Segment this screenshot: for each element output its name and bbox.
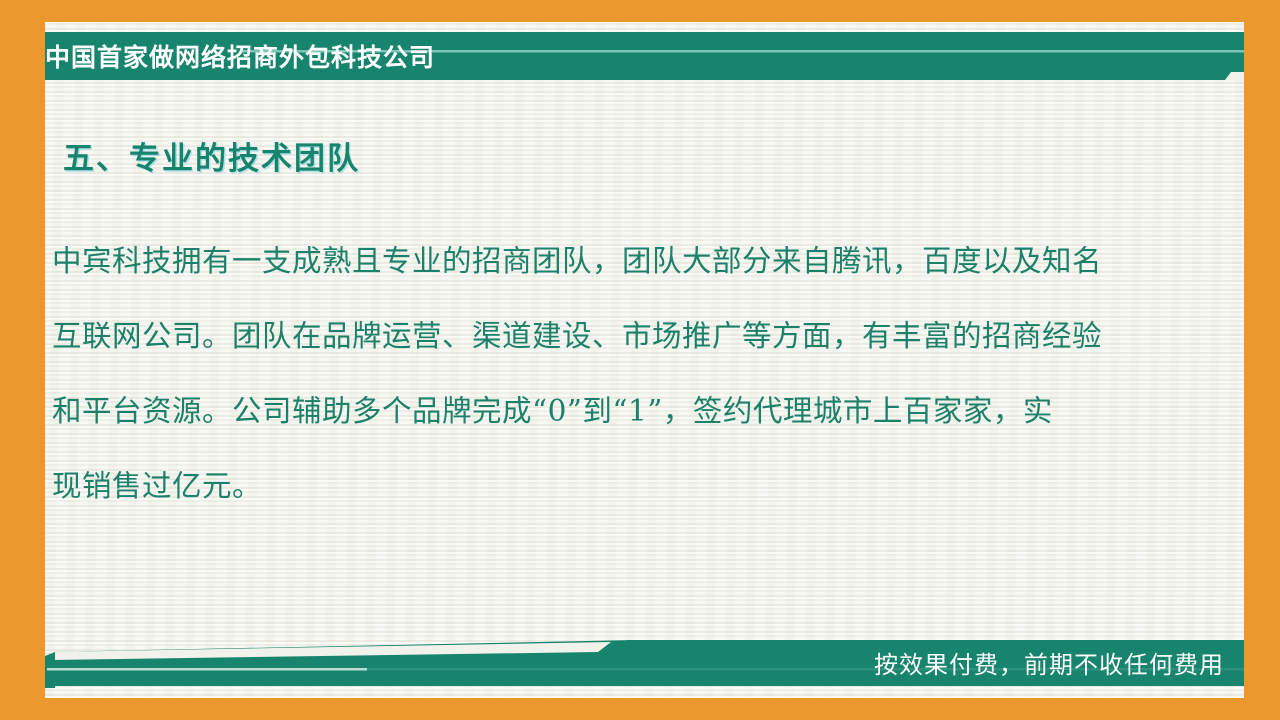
section-heading: 五、专业的技术团队: [63, 133, 360, 178]
paragraph-line-1: 中宾科技拥有一支成熟且专业的招商团队，团队大部分来自腾讯，百度以及知名: [52, 224, 1187, 299]
body-paragraph: 中宾科技拥有一支成熟且专业的招商团队，团队大部分来自腾讯，百度以及知名 互联网公…: [52, 224, 1187, 524]
paragraph-line-4: 现销售过亿元。: [52, 449, 1187, 524]
paragraph-line-3: 和平台资源。公司辅助多个品牌完成“0”到“1”，签约代理城市上百家家，实: [52, 374, 1187, 449]
footer-tagline: 按效果付费，前期不收任何费用: [874, 645, 1224, 680]
header-title-text: 中国首家做网络招商外包科技公司: [45, 38, 435, 74]
paragraph-line-2: 互联网公司。团队在品牌运营、渠道建设、市场推广等方面，有丰富的招商经验: [52, 299, 1187, 374]
slide-canvas: 中国首家做网络招商外包科技公司 五、专业的技术团队 中宾科技拥有一支成熟且专业的…: [0, 0, 1280, 720]
header-title: 中国首家做网络招商外包科技公司: [45, 36, 515, 76]
